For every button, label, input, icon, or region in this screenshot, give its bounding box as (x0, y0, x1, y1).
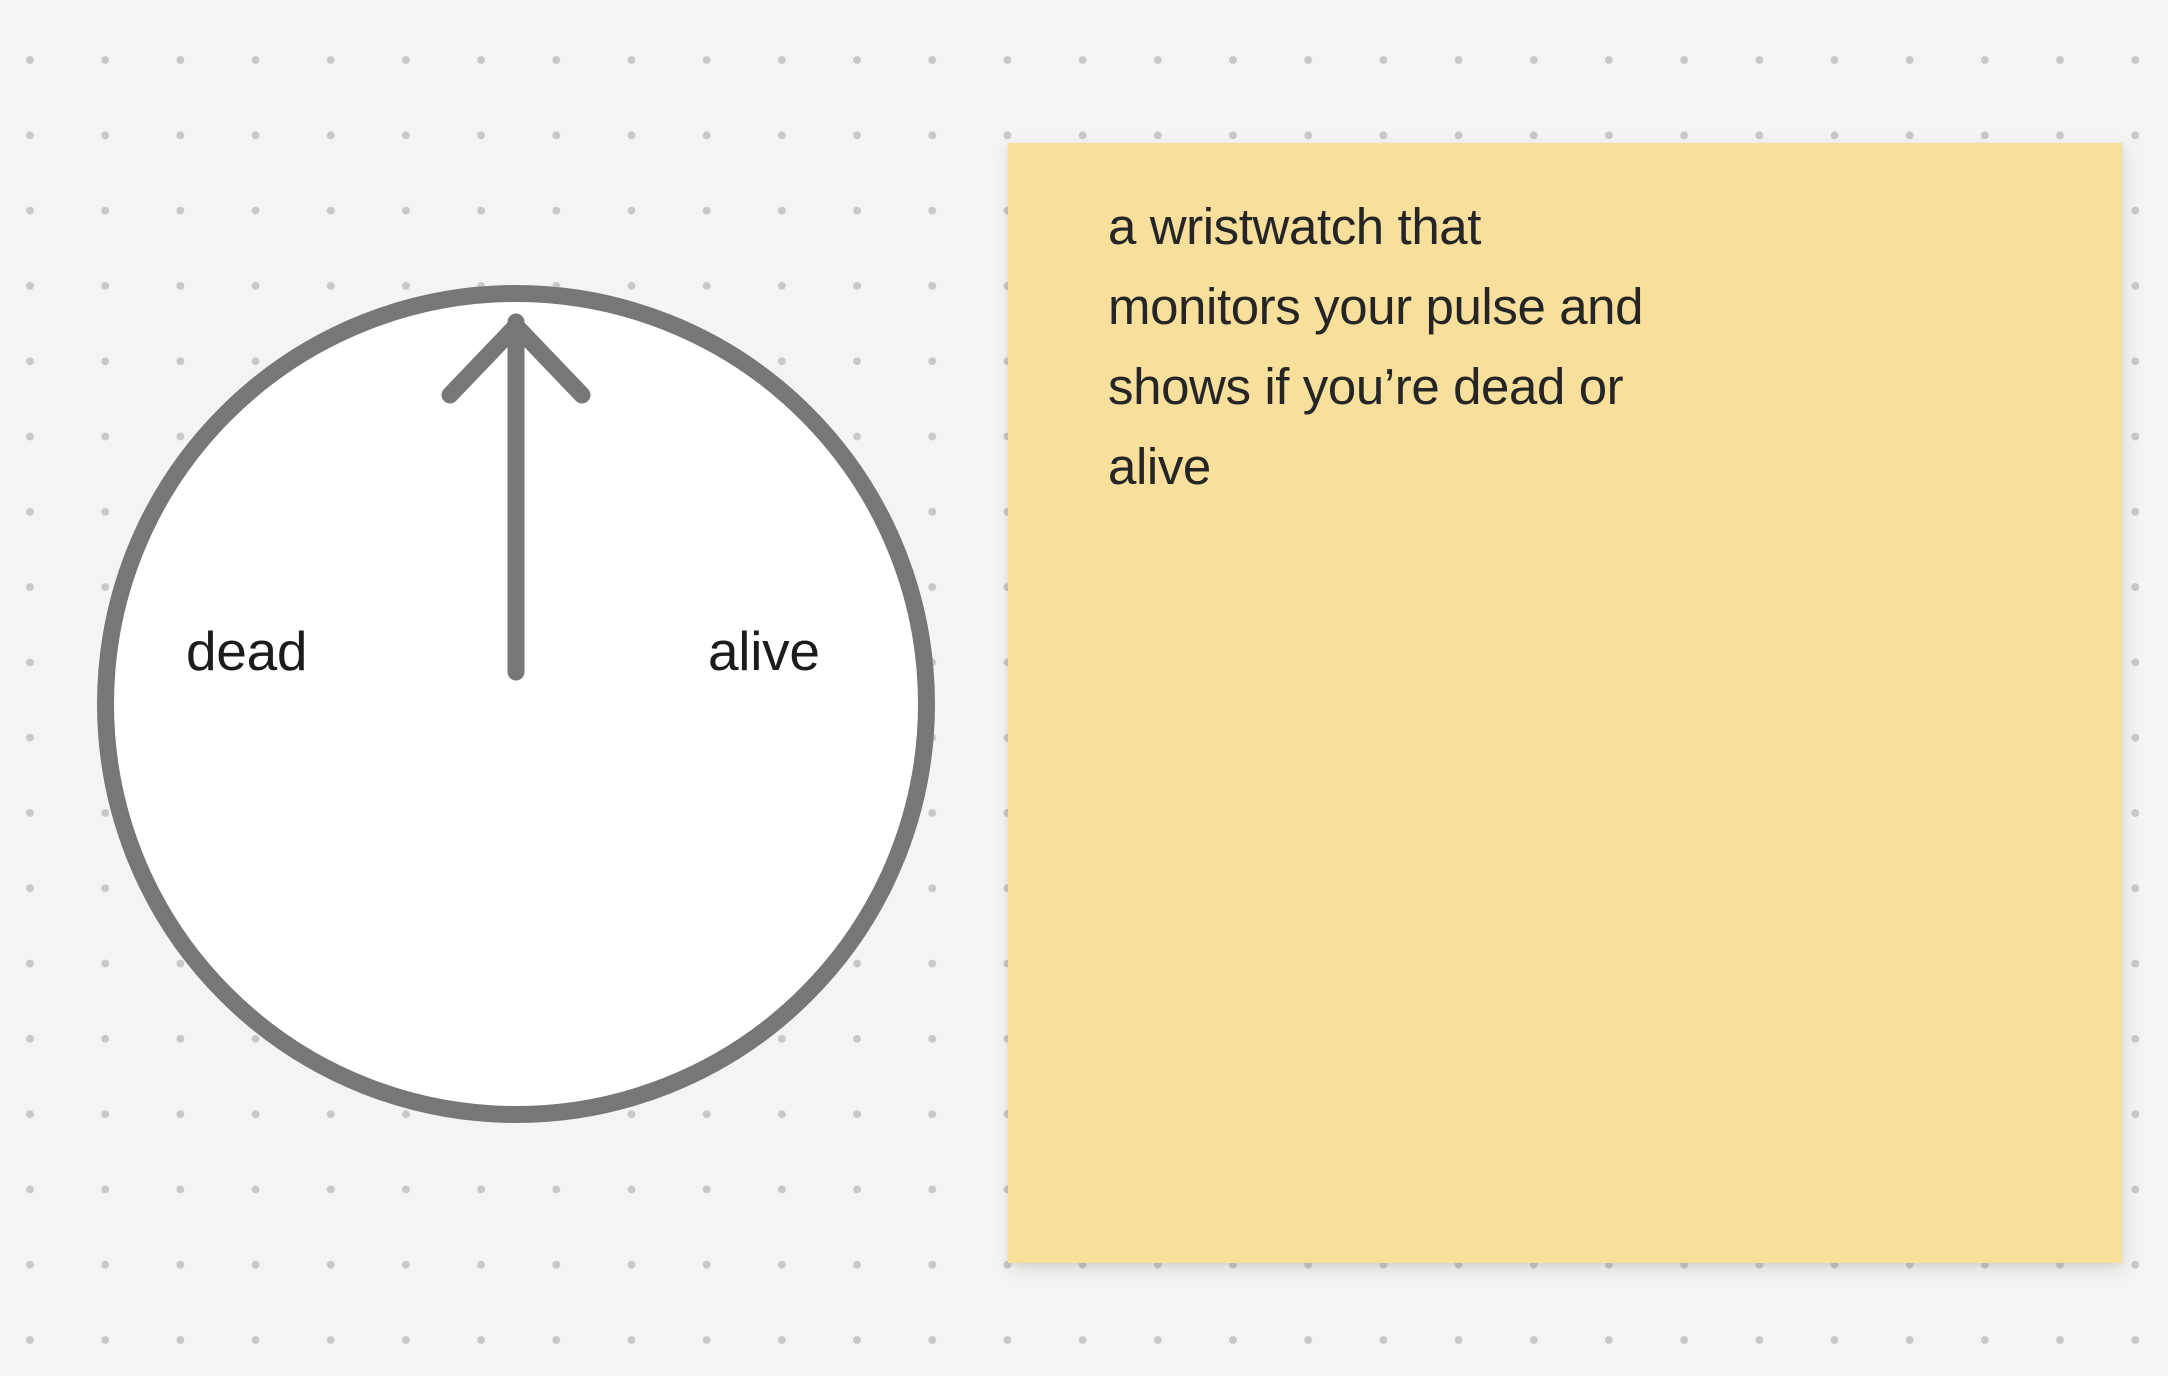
sticky-note-card[interactable]: a wristwatch that monitors your pulse an… (1008, 143, 2122, 1263)
sketch-canvas: dead alive a wristwatch that monitors yo… (0, 0, 2168, 1376)
gauge-dial-icon (88, 276, 944, 1132)
sticky-note-text: a wristwatch that monitors your pulse an… (1108, 187, 2048, 507)
gauge-label-alive: alive (708, 624, 820, 679)
gauge-dial[interactable]: dead alive (88, 276, 944, 1132)
gauge-label-dead: dead (186, 624, 307, 679)
